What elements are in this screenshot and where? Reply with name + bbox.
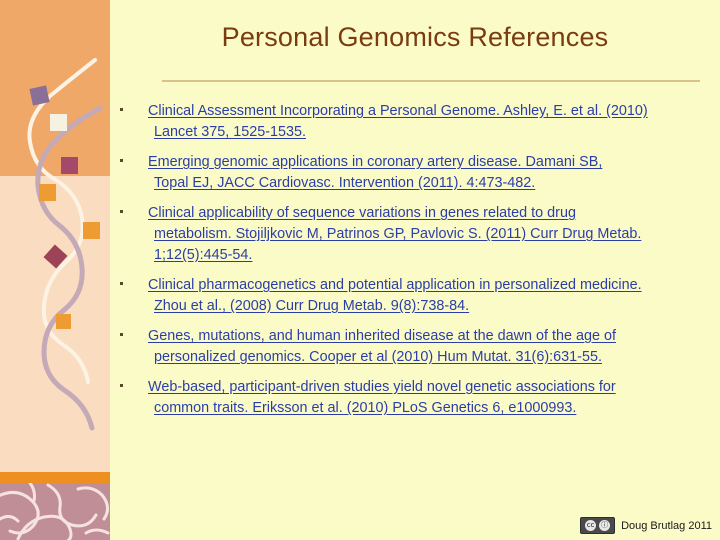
bullet-marker bbox=[120, 282, 123, 285]
reference-link[interactable]: Zhou et al., (2008) Curr Drug Metab. 9(8… bbox=[148, 296, 714, 317]
helix-square-maroon bbox=[61, 157, 78, 174]
cc-circle-icon: cc bbox=[585, 520, 596, 531]
title-divider-rule bbox=[162, 80, 700, 82]
reference-link[interactable]: Clinical applicability of sequence varia… bbox=[148, 203, 714, 224]
helix-square-orange-upper bbox=[39, 184, 56, 201]
helix-square-cream bbox=[50, 114, 67, 131]
reference-item: Web-based, participant-driven studies yi… bbox=[118, 377, 714, 419]
reference-link[interactable]: Lancet 375, 1525-1535. bbox=[148, 122, 714, 143]
reference-link[interactable]: Emerging genomic applications in coronar… bbox=[148, 152, 714, 173]
reference-link[interactable]: Web-based, participant-driven studies yi… bbox=[148, 377, 714, 398]
reference-list: Clinical Assessment Incorporating a Pers… bbox=[118, 101, 714, 428]
slide-title: Personal Genomics References bbox=[110, 22, 720, 53]
reference-link[interactable]: common traits. Eriksson et al. (2010) PL… bbox=[148, 398, 714, 419]
reference-link[interactable]: Topal EJ, JACC Cardiovasc. Intervention … bbox=[148, 173, 714, 194]
dna-helix-graphic bbox=[0, 0, 110, 540]
bullet-marker bbox=[120, 159, 123, 162]
helix-square-orange-lower bbox=[83, 222, 100, 239]
reference-link[interactable]: Genes, mutations, and human inherited di… bbox=[148, 326, 714, 347]
reference-link[interactable]: Clinical pharmacogenetics and potential … bbox=[148, 275, 714, 296]
bullet-marker bbox=[120, 384, 123, 387]
reference-item: Emerging genomic applications in coronar… bbox=[118, 152, 714, 194]
slide-canvas: Personal Genomics References Clinical As… bbox=[0, 0, 720, 540]
bullet-marker bbox=[120, 210, 123, 213]
reference-item: Clinical Assessment Incorporating a Pers… bbox=[118, 101, 714, 143]
footer-credit: cc ⓘ Doug Brutlag 2011 bbox=[580, 517, 712, 534]
bullet-marker bbox=[120, 108, 123, 111]
sidebar-paisley-pattern bbox=[0, 483, 110, 540]
decorative-sidebar bbox=[0, 0, 110, 540]
helix-square-violet bbox=[29, 85, 49, 105]
reference-item: Genes, mutations, and human inherited di… bbox=[118, 326, 714, 368]
reference-link[interactable]: 1;12(5):445-54. bbox=[148, 245, 714, 266]
reference-link[interactable]: Clinical Assessment Incorporating a Pers… bbox=[148, 101, 714, 122]
bullet-marker bbox=[120, 333, 123, 336]
reference-item: Clinical pharmacogenetics and potential … bbox=[118, 275, 714, 317]
credit-text: Doug Brutlag 2011 bbox=[621, 520, 712, 532]
creative-commons-badge-icon[interactable]: cc ⓘ bbox=[580, 517, 615, 534]
reference-item: Clinical applicability of sequence varia… bbox=[118, 203, 714, 266]
cc-by-circle-icon: ⓘ bbox=[599, 520, 610, 531]
reference-link[interactable]: metabolism. Stojiljkovic M, Patrinos GP,… bbox=[148, 224, 714, 245]
reference-link[interactable]: personalized genomics. Cooper et al (201… bbox=[148, 347, 714, 368]
helix-square-orange-bottom bbox=[56, 314, 71, 329]
sidebar-orange-stripe bbox=[0, 472, 110, 483]
